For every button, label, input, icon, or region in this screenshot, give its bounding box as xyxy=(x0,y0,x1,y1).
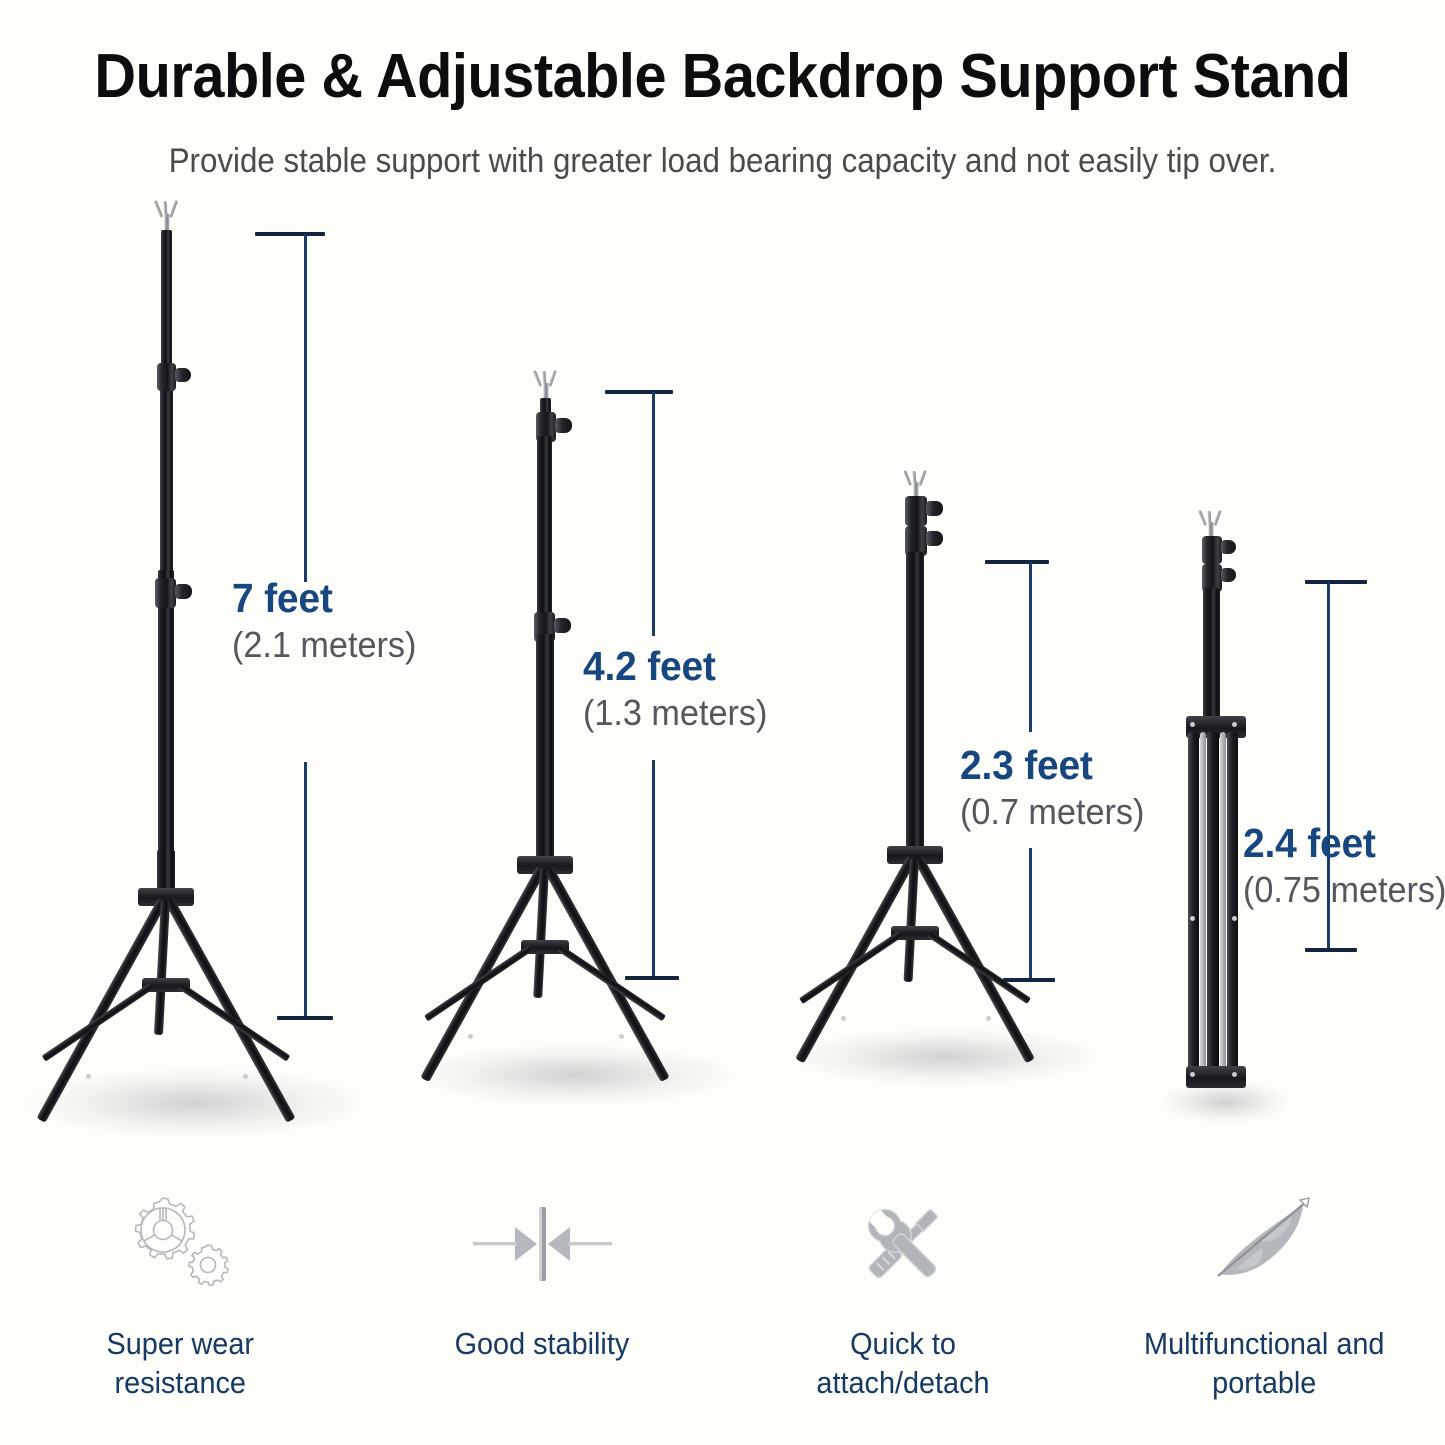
pole-section-upper xyxy=(160,375,173,575)
leg-rivet-left xyxy=(86,1074,91,1079)
measure-meters-3: (0.7 meters) xyxy=(960,790,1144,834)
feature-label: Quick to attach/detach xyxy=(764,1324,1043,1402)
folded-center-column xyxy=(1207,732,1219,1074)
leg-rivet-left xyxy=(841,1016,846,1021)
locking-knob-upper[interactable] xyxy=(1221,540,1236,554)
measure-label-stand-2: 4.2 feet (1.3 meters) xyxy=(583,643,777,735)
pole-section-middle xyxy=(537,436,552,636)
tripod-leg-left xyxy=(36,898,167,1123)
leg-rivet-right xyxy=(619,1034,624,1039)
fold-rivet-top-left xyxy=(1190,722,1195,727)
feature-row: Super wear resistance Good stability xyxy=(0,1190,1445,1430)
folded-leg-brace-1 xyxy=(1200,732,1206,1074)
feather-icon xyxy=(1204,1190,1324,1298)
leg-rivet-left xyxy=(468,1034,473,1039)
measure-meters-4: (0.75 meters) xyxy=(1243,868,1445,912)
fold-rivet-mid-left xyxy=(1190,916,1195,921)
measure-feet-3: 2.3 feet xyxy=(960,742,1144,788)
measure-feet-4: 2.4 feet xyxy=(1243,820,1445,866)
product-illustration-stage: 7 feet (2.1 meters) xyxy=(0,200,1445,1190)
collar-upper xyxy=(157,363,176,391)
page-title: Durable & Adjustable Backdrop Support St… xyxy=(51,42,1395,112)
locking-knob-lower[interactable] xyxy=(175,584,192,599)
collar-lower xyxy=(155,578,176,608)
floor-shadow xyxy=(25,1068,365,1138)
fold-rivet-bottom-right xyxy=(1232,1072,1237,1077)
folded-leg-1 xyxy=(1188,732,1199,1074)
pole-section-bottom xyxy=(536,634,554,862)
fold-rivet-top-right xyxy=(1232,722,1237,727)
feature-label: Good stability xyxy=(455,1324,630,1363)
floor-shadow xyxy=(415,1044,735,1106)
stand-folded xyxy=(1150,510,1310,1110)
fold-rivet-bottom-left xyxy=(1190,1072,1195,1077)
feature-super-wear-resistance: Super wear resistance xyxy=(0,1190,361,1430)
leg-rivet-right xyxy=(243,1074,248,1079)
tripod-brace-left xyxy=(424,945,532,1021)
pole-section-bottom xyxy=(906,552,924,852)
locking-knob-upper[interactable] xyxy=(926,501,943,516)
floor-shadow xyxy=(790,1028,1100,1086)
locking-knob-upper[interactable] xyxy=(175,368,191,382)
fold-bottom-hub xyxy=(1186,1066,1246,1088)
stability-icon xyxy=(467,1190,617,1298)
gears-icon xyxy=(129,1190,233,1298)
feature-label: Multifunctional and portable xyxy=(1144,1324,1384,1402)
locking-knob-lower[interactable] xyxy=(1221,568,1236,582)
tools-icon xyxy=(851,1190,955,1298)
leg-rivet-right xyxy=(986,1016,991,1021)
infographic-page: Durable & Adjustable Backdrop Support St… xyxy=(0,0,1445,1445)
pole-section-middle xyxy=(158,570,174,870)
locking-knob-upper[interactable] xyxy=(555,418,572,433)
tripod-leg-left xyxy=(420,866,546,1083)
collar-upper xyxy=(905,496,927,526)
pole-section-top xyxy=(161,230,172,380)
page-subtitle: Provide stable support with greater load… xyxy=(58,140,1387,182)
pole-section-bottom xyxy=(1203,588,1220,728)
tripod-brace-left xyxy=(42,983,154,1061)
locking-knob-lower[interactable] xyxy=(554,618,571,633)
locking-knob-lower[interactable] xyxy=(926,531,943,546)
measure-meters-2: (1.3 meters) xyxy=(583,691,767,735)
feature-label: Super wear resistance xyxy=(107,1324,254,1402)
feature-multifunctional-portable: Multifunctional and portable xyxy=(1084,1190,1445,1430)
measure-label-stand-4: 2.4 feet (0.75 meters) xyxy=(1243,820,1445,912)
measure-meters-1: (2.1 meters) xyxy=(232,623,416,667)
measure-feet-1: 7 feet xyxy=(232,575,416,621)
fold-rivet-mid-right xyxy=(1232,916,1237,921)
tripod-brace-left xyxy=(799,931,902,1004)
feature-good-stability: Good stability xyxy=(361,1190,722,1430)
collar-upper xyxy=(1202,536,1222,564)
feature-quick-attach-detach: Quick to attach/detach xyxy=(723,1190,1084,1430)
measure-label-stand-1: 7 feet (2.1 meters) xyxy=(232,575,426,667)
measure-feet-2: 4.2 feet xyxy=(583,643,767,689)
measure-label-stand-3: 2.3 feet (0.7 meters) xyxy=(960,742,1154,834)
folded-leg-2 xyxy=(1227,732,1238,1074)
folded-leg-brace-2 xyxy=(1220,732,1226,1074)
